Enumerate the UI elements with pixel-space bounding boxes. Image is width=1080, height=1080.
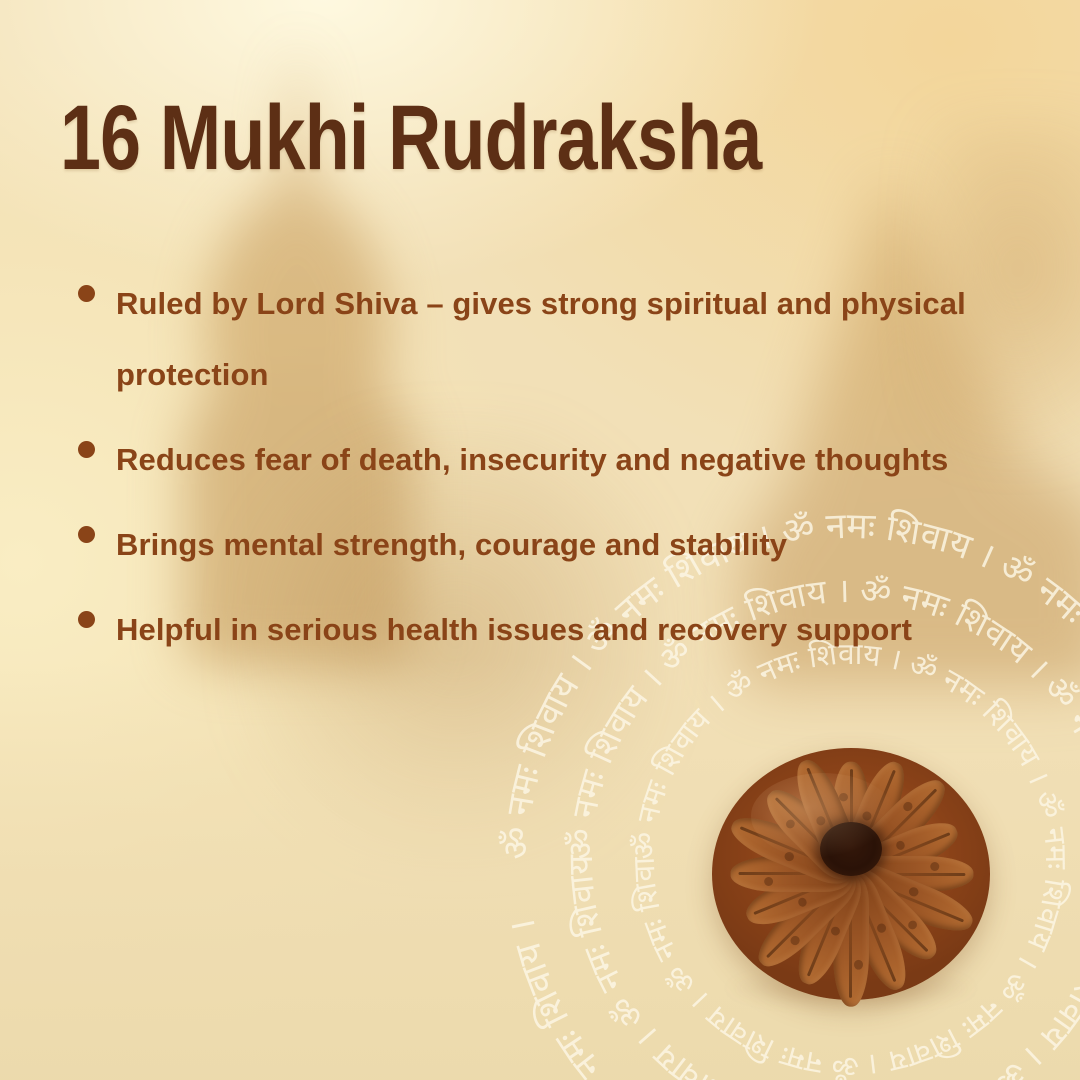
page-title: 16 Mukhi Rudraksha [60, 92, 761, 184]
benefits-list: Ruled by Lord Shiva – gives strong spiri… [78, 268, 1053, 679]
list-item: Ruled by Lord Shiva – gives strong spiri… [78, 268, 1053, 410]
bead-lobe-grain [908, 886, 920, 898]
bead-lobe-grain [797, 896, 808, 907]
bead-lobe-grain [861, 810, 873, 822]
bead-lobe-grain [906, 919, 918, 931]
bead-lobe-grain [783, 851, 795, 863]
bead-lobe-grain [854, 960, 863, 970]
bullet-dot-icon [78, 285, 95, 302]
bead-lobe-grain [901, 800, 914, 813]
bead-lobe-grain [895, 840, 906, 852]
bead-lobe-grain [930, 862, 939, 871]
bullet-dot-icon [78, 441, 95, 458]
bead-lobe-grain [830, 925, 842, 937]
bead-lobe-grain [784, 818, 796, 830]
bead-lobe-grain [815, 815, 827, 827]
bead-lobe-grain [789, 934, 802, 947]
poster-canvas: ॐ नमः शिवाय । ॐ नमः शिवाय । ॐ नमः शिवाय … [0, 0, 1080, 1080]
list-item: Helpful in serious health issues and rec… [78, 594, 1053, 665]
list-item-label: Helpful in serious health issues and rec… [116, 594, 912, 665]
list-item-label: Brings mental strength, courage and stab… [116, 509, 787, 580]
bead-lobe-grain [764, 877, 773, 886]
rudraksha-bead-image [712, 748, 990, 1000]
list-item: Brings mental strength, courage and stab… [78, 509, 1053, 580]
bead-center-hole [820, 822, 882, 876]
bullet-dot-icon [78, 526, 95, 543]
bead-lobe-grain [876, 922, 888, 934]
list-item-label: Ruled by Lord Shiva – gives strong spiri… [116, 268, 1053, 410]
bead-lobe-grain [839, 793, 848, 801]
list-item: Reduces fear of death, insecurity and ne… [78, 424, 1053, 495]
list-item-label: Reduces fear of death, insecurity and ne… [116, 424, 948, 495]
bullet-dot-icon [78, 611, 95, 628]
